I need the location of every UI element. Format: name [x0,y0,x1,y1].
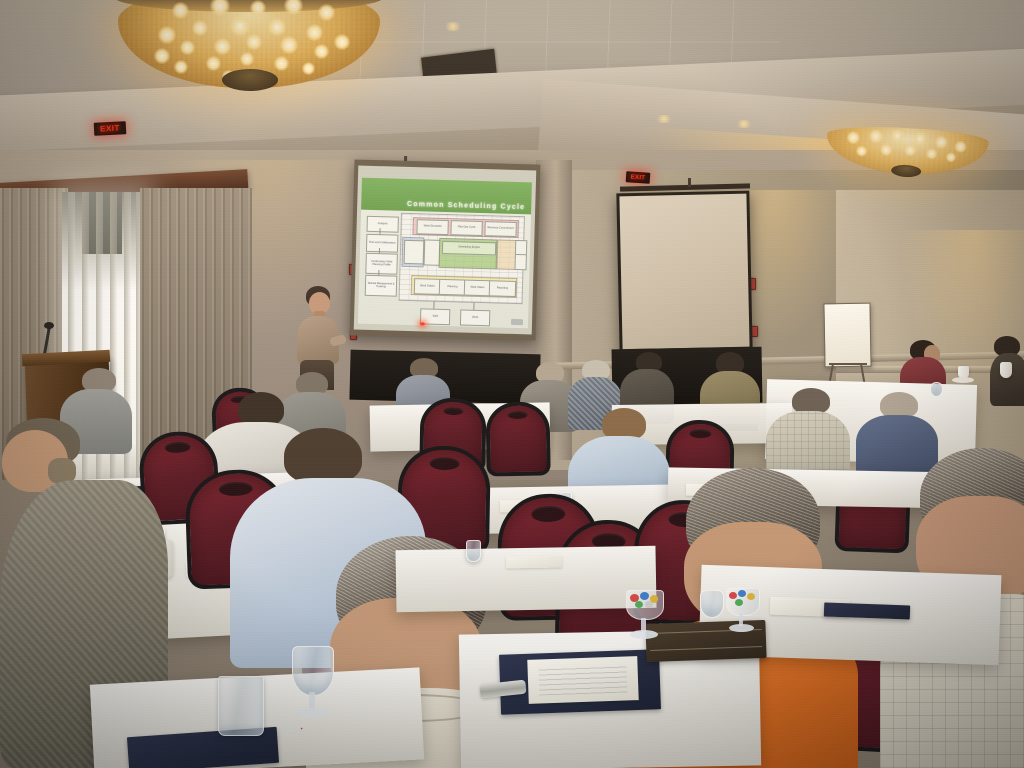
briefcase-trim [650,646,762,651]
chandelier-bulb [240,52,254,66]
chandelier-finial [891,164,922,178]
water-tumbler [466,540,481,562]
chandelier-bulb [250,0,266,16]
secondary-screen-surface [619,194,749,350]
chandelier-bulb [302,62,315,75]
chandelier-bulb [274,56,289,71]
chandelier-bulb [280,36,298,54]
candy [645,601,653,608]
diagram-box-left-mid [404,240,425,265]
chandelier-bulb [246,34,262,50]
candy [735,599,743,606]
saucer [952,377,974,383]
main-projection-screen: Common Scheduling Cycle Analysis Prior a… [350,159,541,340]
diagram-box-prior: Prior and Collaboration [366,234,398,253]
secondary-screen-hook [688,178,691,187]
diagram-box-tactical: Tactical Management & Tracking [365,275,398,297]
exit-sign-left: EXIT [94,121,127,136]
water-tumbler [218,676,264,736]
diagram-box-far-right-2 [514,254,526,270]
exit-sign-label: EXIT [100,123,120,133]
microphone-icon [44,322,54,329]
flip-chart-easel [823,303,871,368]
ceiling-downlight [735,120,753,128]
diagram-connector [433,302,434,309]
chandelier-bulb [206,56,221,71]
candy [729,592,737,599]
chair-handle-slot [689,429,711,438]
napkin-print: ✦ [300,726,304,731]
candy-bowl [726,588,760,616]
candy-dish-foot [630,630,658,639]
chair-handle-slot [507,410,527,419]
diagram-band-right [496,239,516,270]
chair-handle-slot [443,407,464,416]
chandelier-bulb [306,24,323,41]
chandelier-bulb [174,60,188,74]
candy-bowl [626,590,664,620]
chandelier-bulb [318,4,335,21]
slide-header-band: Common Scheduling Cycle [361,178,532,215]
chandelier-bulb [214,38,231,55]
slide-title: Common Scheduling Cycle [407,201,525,211]
chandelier-bulb [180,40,195,55]
diagram-box-work: Work [460,309,490,326]
water-goblet [700,590,724,618]
candy-dish [626,590,662,640]
projected-slide: Common Scheduling Cycle Analysis Prior a… [358,178,532,329]
candy-dish [726,588,758,634]
notepad-paper [527,656,638,704]
candy-dish-foot [729,624,754,632]
chandelier-bulb [334,34,350,50]
diagram-box-resource-commitment: Resource Commitment [484,221,516,237]
paper-ruled-lines [539,664,628,695]
secondary-projection-screen [616,191,752,354]
diagram-box-work-demands: Work Demands [416,219,448,235]
diagram-box-scheduling-engine: Scheduling Engine [442,241,496,256]
chandelier-primary [118,0,380,102]
candy [635,601,643,608]
candy [640,592,649,600]
diagram-box-analysis: Analysis [366,216,398,233]
flip-chart-crossbar [829,363,867,365]
candy [747,593,755,600]
diagram-box-planning: Planning [439,279,466,296]
exit-sign-label: EXIT [631,174,646,181]
slide-logo [511,319,523,325]
hair [238,392,284,426]
chandelier-secondary [825,124,990,186]
chandelier-finial [222,69,278,91]
banquet-chair[interactable] [485,402,542,469]
chandelier-bulb [154,48,170,64]
diagram-box-plan-day-cycle: Plan Day Cycle [450,220,482,236]
chandelier-bulb [192,20,208,36]
diagram-box-confirmation: Confirmation Field Planning Profile [365,253,398,275]
hair [284,428,362,484]
chandelier-bulb [314,44,329,59]
diagram-connector [473,303,474,310]
chair-handle-slot [429,457,459,471]
diagram-box-reporting: Reporting [489,280,516,297]
diagram-box-work-status: Work Status [464,280,491,297]
candy [738,590,746,597]
screen-surface: Common Scheduling Cycle Analysis Prior a… [354,166,537,335]
conference-room-photo: EXIT EXIT Common Scheduling Cycle Analys… [0,0,1024,768]
chandelier-bulb [172,2,189,19]
foam-coffee-cup [1000,362,1012,378]
diagram-box-work-orders: Work Orders [414,278,441,295]
goblet-foot [296,708,328,718]
ceiling-downlight [443,22,463,31]
chandelier-bulb [230,16,250,36]
laser-pointer-dot [420,322,425,325]
notepad-paper [506,556,562,569]
chair-back [485,401,550,476]
torso [990,353,1024,406]
exit-sign-right: EXIT [626,171,651,184]
ceiling-downlight [655,115,673,123]
chandelier-bulb [268,18,286,36]
water-goblet [292,646,334,696]
navy-portfolio-folder [824,603,910,620]
chandelier-bulb [158,26,176,44]
